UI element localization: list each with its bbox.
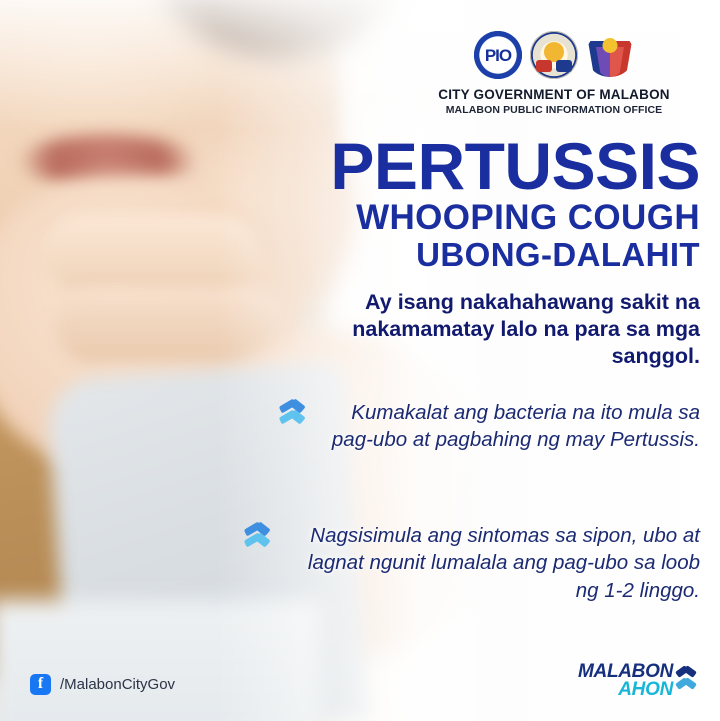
facebook-handle[interactable]: f /MalabonCityGov	[30, 674, 175, 695]
facebook-handle-text: /MalabonCityGov	[60, 676, 175, 693]
title-subtitle-english: WHOOPING COUGH	[230, 199, 700, 237]
page-title: PERTUSSIS	[230, 136, 700, 197]
malabon-ahon-logo: MALABON AHON	[578, 663, 698, 699]
org-name-primary: CITY GOVERNMENT OF MALABON	[404, 87, 704, 103]
title-subtitle-filipino: UBONG-DALAHIT	[230, 237, 700, 273]
pio-seal-label: PIO	[485, 47, 511, 64]
double-chevron-up-icon	[245, 525, 273, 555]
pertussis-infographic: PIO CITY GOVERNMENT OF MALABON MALABON P…	[0, 0, 720, 721]
title-block: PERTUSSIS WHOOPING COUGH UBONG-DALAHIT	[230, 136, 700, 272]
bagong-pilipinas-seal-icon	[586, 31, 634, 79]
pio-seal-icon: PIO	[474, 31, 522, 79]
info-bullet-2: Nagsisimula ang sintomas sa sipon, ubo a…	[245, 522, 700, 604]
header-branding: PIO CITY GOVERNMENT OF MALABON MALABON P…	[404, 30, 704, 116]
seal-row: PIO	[404, 30, 704, 80]
ahon-chevron-icon	[676, 666, 698, 696]
city-of-malabon-seal-icon	[530, 31, 578, 79]
info-bullet-1-text: Kumakalat ang bacteria na ito mula sa pa…	[320, 399, 700, 454]
info-bullet-1: Kumakalat ang bacteria na ito mula sa pa…	[280, 399, 700, 454]
facebook-icon[interactable]: f	[30, 674, 51, 695]
lead-paragraph: Ay isang nakahahawang sakit na nakamamat…	[300, 289, 700, 370]
info-bullet-2-text: Nagsisimula ang sintomas sa sipon, ubo a…	[285, 522, 700, 604]
org-name-secondary: MALABON PUBLIC INFORMATION OFFICE	[404, 104, 704, 117]
ahon-logo-line2: AHON	[578, 681, 673, 699]
double-chevron-up-icon	[280, 402, 308, 432]
